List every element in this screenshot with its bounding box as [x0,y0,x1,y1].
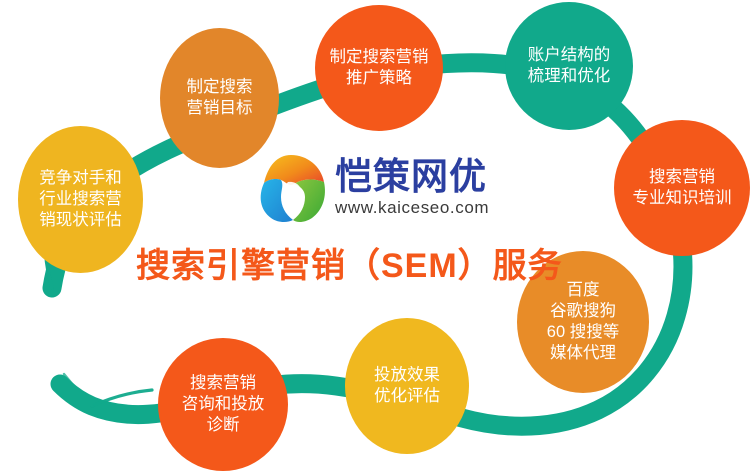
node-line: 媒体代理 [550,343,616,364]
ribbon-tail-bottom [92,390,152,406]
node-line: 专业知识培训 [633,188,732,209]
node-line: 制定搜索营销 [330,47,429,68]
node-line: 竞争对手和 [39,168,122,189]
page-title: 搜索引擎营销（SEM）服务 [136,238,563,287]
kaice-logo-icon [255,152,327,224]
node-line: 诊断 [207,415,240,436]
brand-logo-block: 恺策网优 www.kaiceseo.com [255,146,520,230]
node-line: 搜索营销 [190,373,256,394]
brand-text-wrap: 恺策网优 www.kaiceseo.com [335,158,489,219]
node-account-structure[interactable]: 账户结构的 梳理和优化 [505,2,633,130]
node-line: 投放效果 [374,365,440,386]
node-line: 销现状评估 [39,210,122,231]
brand-wordmark: 恺策网优 [335,158,489,197]
node-effect-optimization[interactable]: 投放效果 优化评估 [345,318,469,454]
node-line: 账户结构的 [528,45,611,66]
node-competitor-assessment[interactable]: 竞争对手和 行业搜索营 销现状评估 [18,126,143,273]
node-line: 行业搜索营 [39,189,122,210]
brand-url: www.kaiceseo.com [335,198,489,218]
node-consulting-diagnosis[interactable]: 搜索营销 咨询和投放 诊断 [158,338,288,471]
node-line: 百度 [567,280,600,301]
node-line: 咨询和投放 [182,394,265,415]
sem-service-infographic: 竞争对手和 行业搜索营 销现状评估 制定搜索 营销目标 制定搜索营销 推广策略 … [0,0,750,471]
node-line: 谷歌搜狗 [550,301,616,322]
node-line: 搜索营销 [649,167,715,188]
node-professional-training[interactable]: 搜索营销 专业知识培训 [614,120,750,256]
node-line: 60 搜搜等 [547,322,619,343]
node-line: 制定搜索 [187,77,253,98]
node-line: 优化评估 [374,386,440,407]
node-promotion-strategy[interactable]: 制定搜索营销 推广策略 [315,5,443,131]
node-line: 推广策略 [346,68,412,89]
node-line: 营销目标 [187,98,253,119]
node-line: 梳理和优化 [528,66,611,87]
